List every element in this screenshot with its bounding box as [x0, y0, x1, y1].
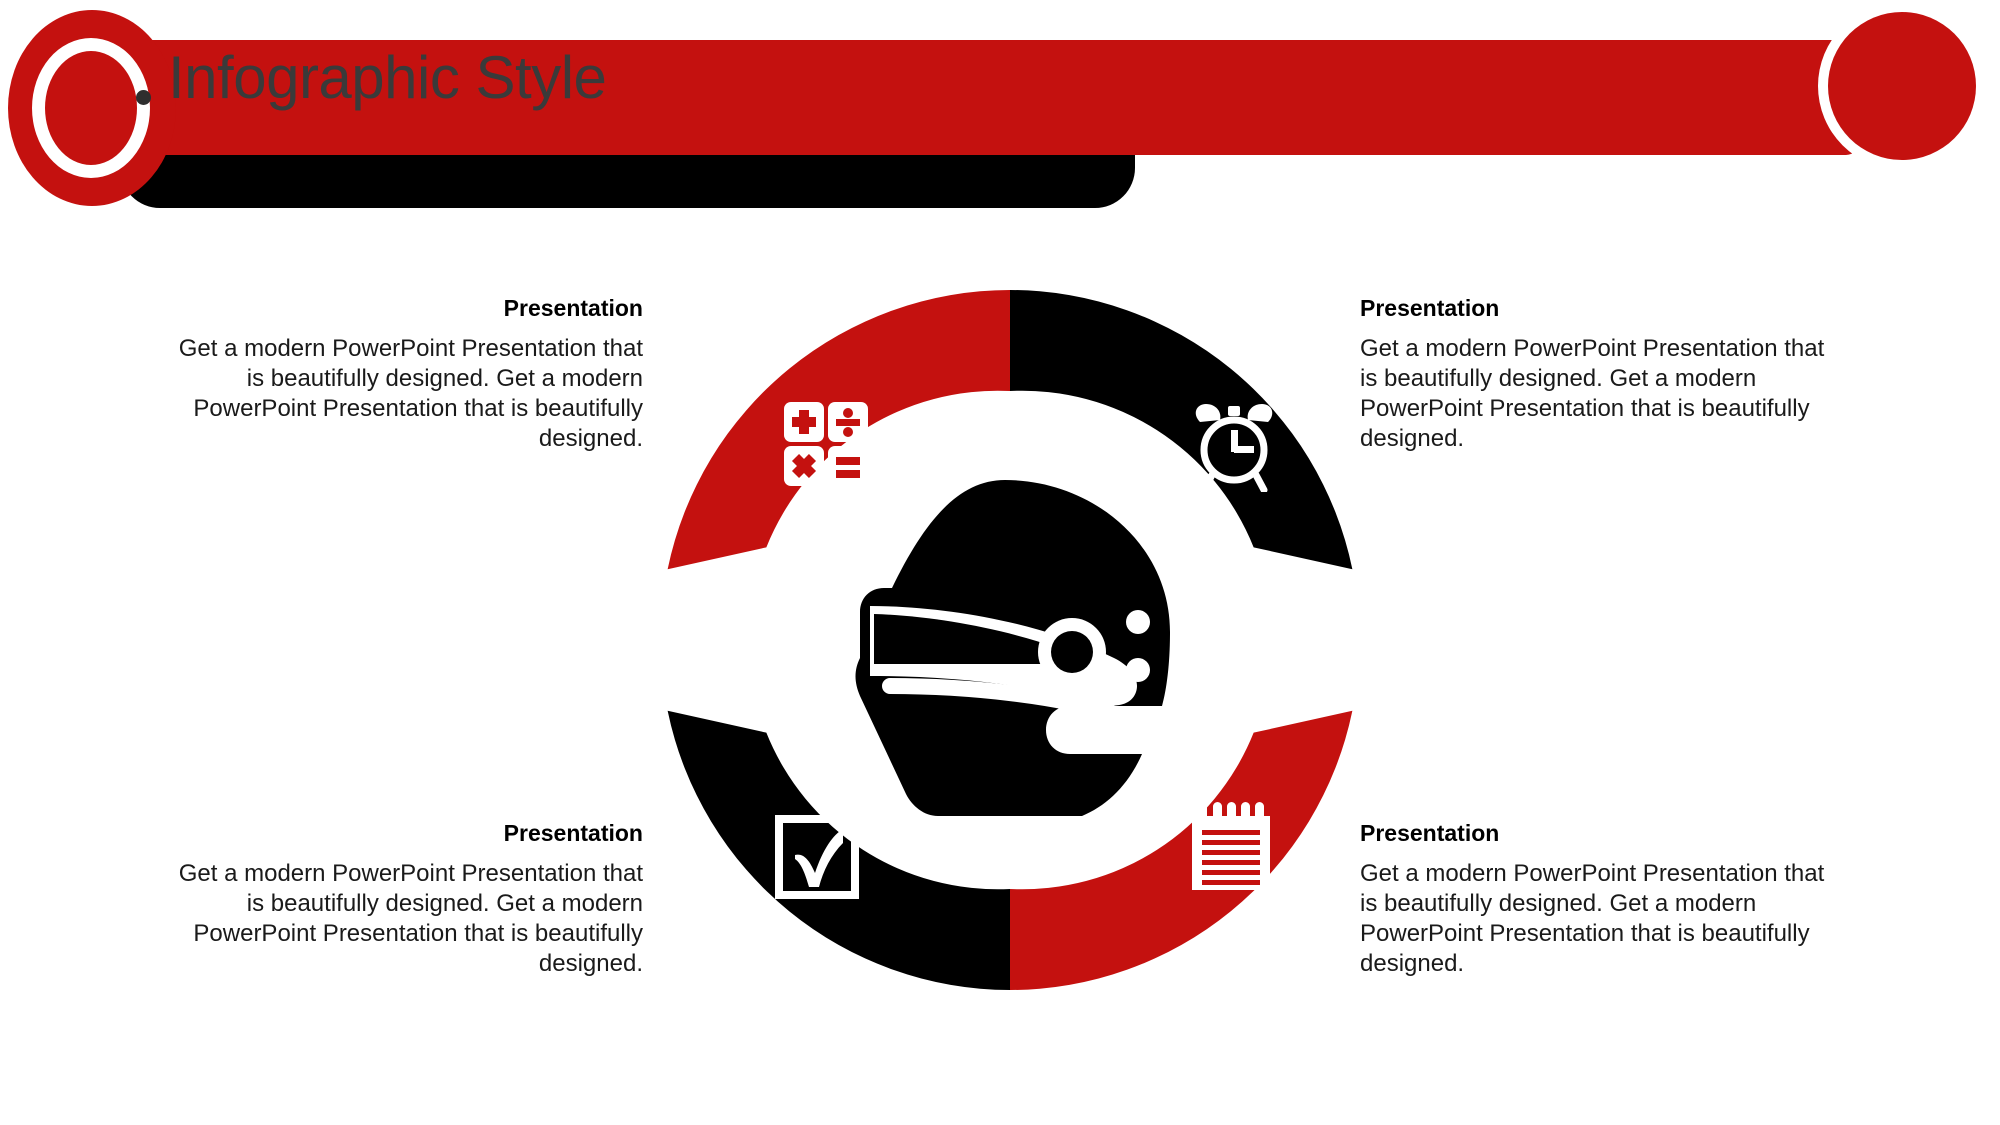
slide-header: Infographic Style	[0, 0, 2000, 215]
text-block-top-right: Presentation Get a modern PowerPoint Pre…	[1360, 295, 1848, 454]
racing-helmet-icon	[856, 480, 1171, 816]
text-block-top-left: Presentation Get a modern PowerPoint Pre…	[155, 295, 643, 454]
bullet-dot-icon	[136, 90, 151, 105]
text-block-heading: Presentation	[1360, 295, 1848, 321]
text-block-bottom-left: Presentation Get a modern PowerPoint Pre…	[155, 820, 643, 979]
text-block-bottom-right: Presentation Get a modern PowerPoint Pre…	[1360, 820, 1848, 979]
text-block-heading: Presentation	[155, 295, 643, 321]
notepad-icon	[1190, 800, 1272, 892]
page-title: Infographic Style	[168, 41, 606, 115]
checkbox-check-icon	[775, 815, 859, 899]
text-block-body: Get a modern PowerPoint Presentation tha…	[1360, 334, 1848, 454]
text-block-heading: Presentation	[155, 820, 643, 846]
alarm-clock-icon	[1188, 400, 1280, 492]
text-block-body: Get a modern PowerPoint Presentation tha…	[155, 859, 643, 979]
header-shadow-shape	[120, 150, 1135, 208]
header-left-target-ring	[32, 38, 150, 178]
text-block-heading: Presentation	[1360, 820, 1848, 846]
text-block-body: Get a modern PowerPoint Presentation tha…	[155, 334, 643, 454]
header-right-circle	[1828, 12, 1976, 160]
text-block-body: Get a modern PowerPoint Presentation tha…	[1360, 859, 1848, 979]
calculator-icon	[782, 400, 870, 488]
